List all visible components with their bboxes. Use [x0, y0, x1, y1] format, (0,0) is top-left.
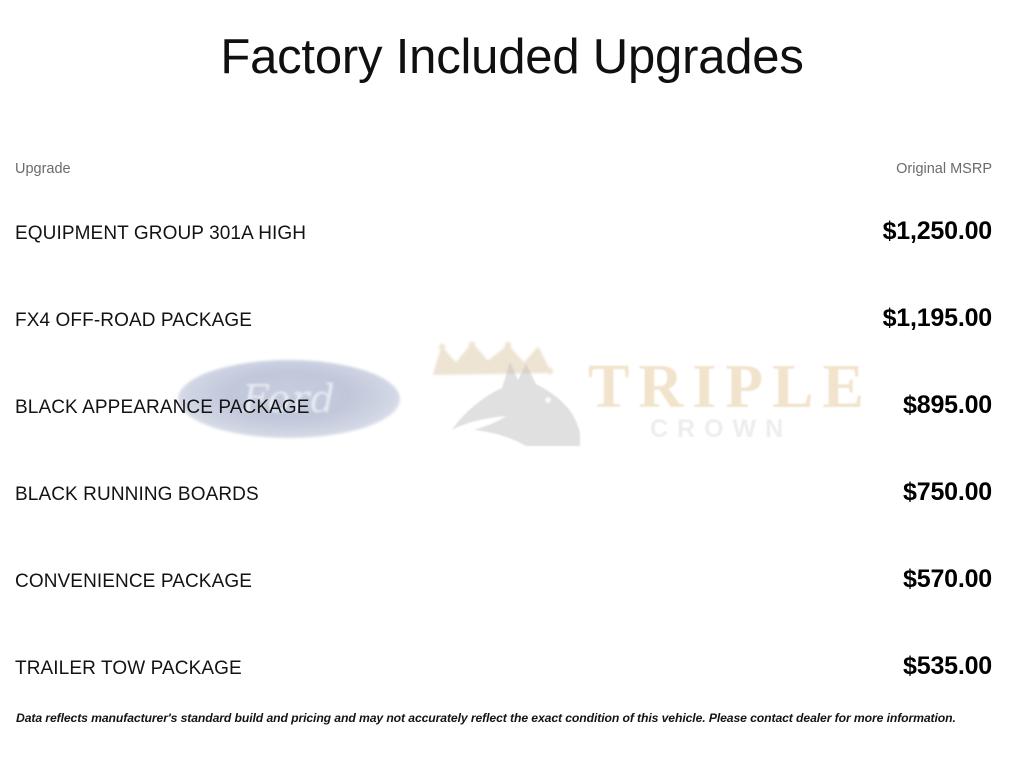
upgrade-price: $535.00: [903, 652, 992, 681]
upgrade-name: EQUIPMENT GROUP 301A HIGH: [15, 223, 306, 245]
upgrade-price: $895.00: [903, 391, 992, 420]
table-row: FX4 OFF-ROAD PACKAGE $1,195.00: [15, 304, 992, 333]
page-title: Factory Included Upgrades: [0, 32, 1024, 83]
table-row: BLACK RUNNING BOARDS $750.00: [15, 478, 992, 507]
table-row: TRAILER TOW PACKAGE $535.00: [15, 652, 992, 681]
disclaimer-text: Data reflects manufacturer's standard bu…: [16, 711, 1008, 725]
upgrade-name: FX4 OFF-ROAD PACKAGE: [15, 310, 252, 332]
upgrades-page: Ford TRIPLE CROWN Factory Included Upgra…: [0, 0, 1024, 768]
table-row: BLACK APPEARANCE PACKAGE $895.00: [15, 391, 992, 420]
upgrade-name: BLACK RUNNING BOARDS: [15, 484, 259, 506]
upgrade-price: $1,195.00: [883, 304, 992, 333]
upgrade-price: $750.00: [903, 478, 992, 507]
table-row: CONVENIENCE PACKAGE $570.00: [15, 565, 992, 594]
table-row: EQUIPMENT GROUP 301A HIGH $1,250.00: [15, 217, 992, 246]
crown-icon: [432, 342, 560, 378]
upgrade-price: $570.00: [903, 565, 992, 594]
column-header-upgrade: Upgrade: [15, 161, 71, 177]
table-header-row: Upgrade Original MSRP: [15, 161, 992, 177]
upgrade-name: CONVENIENCE PACKAGE: [15, 571, 252, 593]
upgrade-price: $1,250.00: [883, 217, 992, 246]
upgrade-name: BLACK APPEARANCE PACKAGE: [15, 397, 310, 419]
upgrade-name: TRAILER TOW PACKAGE: [15, 658, 242, 680]
column-header-msrp: Original MSRP: [896, 161, 992, 177]
